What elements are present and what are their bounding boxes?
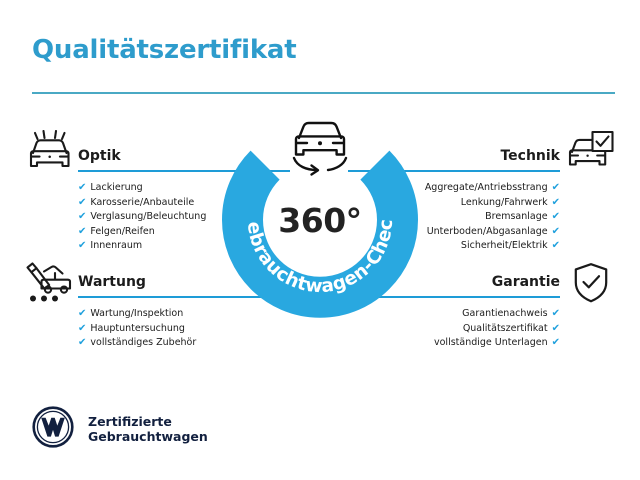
footer-text: Zertifizierte Gebrauchtwagen <box>88 414 208 444</box>
checklist-item: ✔vollständiges Zubehör <box>78 336 248 351</box>
checklist-item-label: vollständiges Zubehör <box>90 337 196 348</box>
check-icon: ✔ <box>78 211 86 222</box>
check-icon: ✔ <box>78 182 86 193</box>
check-icon: ✔ <box>78 197 86 208</box>
checklist-item-label: Sicherheit/Elektrik <box>461 240 548 251</box>
checklist-item-label: Lenkung/Fahrwerk <box>461 197 548 208</box>
footer-line-2: Gebrauchtwagen <box>88 429 208 444</box>
check-icon: ✔ <box>78 337 86 348</box>
certificate-page: Qualitätszertifikat <box>0 0 640 480</box>
check-icon: ✔ <box>78 240 86 251</box>
checklist-item-label: Bremsanlage <box>485 211 547 222</box>
checklist-item-label: Aggregate/Antriebsstrang <box>425 182 548 193</box>
checklist-item-label: Lackierung <box>90 182 142 193</box>
checklist-item-label: Wartung/Inspektion <box>90 308 183 319</box>
footer-line-1: Zertifizierte <box>88 414 208 429</box>
checklist-item: Qualitätszertifikat✔ <box>390 322 560 337</box>
checklist-item-label: Qualitätszertifikat <box>463 323 548 334</box>
section-title-optik: Optik <box>78 148 121 164</box>
check-icon: ✔ <box>552 182 560 193</box>
car-front-checkbox-icon <box>567 130 615 178</box>
section-title-wartung: Wartung <box>78 274 146 290</box>
checklist-item-label: Felgen/Reifen <box>90 226 154 237</box>
car-front-rotate-icon <box>284 116 356 182</box>
checklist-item-label: Innenraum <box>90 240 142 251</box>
car-front-shine-icon <box>27 130 73 178</box>
footer-brand: Zertifizierte Gebrauchtwagen <box>32 406 208 452</box>
check-icon: ✔ <box>552 337 560 348</box>
car-wrench-icon <box>24 262 74 308</box>
checklist-item-label: Unterboden/Abgasanlage <box>427 226 548 237</box>
check-icon: ✔ <box>78 308 86 319</box>
shield-check-icon <box>572 262 610 308</box>
volkswagen-logo <box>32 406 74 452</box>
checklist-item: ✔Hauptuntersuchung <box>78 322 248 337</box>
section-title-garantie: Garantie <box>492 274 560 290</box>
checklist-item-label: Garantienachweis <box>462 308 547 319</box>
badge-360-gebrauchtwagen-check: Gebrauchtwagen-Check 360° <box>222 122 418 318</box>
check-icon: ✔ <box>552 323 560 334</box>
page-title: Qualitätszertifikat <box>32 35 296 65</box>
check-icon: ✔ <box>78 323 86 334</box>
check-icon: ✔ <box>552 197 560 208</box>
checklist-item-label: Karosserie/Anbauteile <box>90 197 194 208</box>
header-divider <box>32 92 615 94</box>
check-icon: ✔ <box>552 240 560 251</box>
checklist-item-label: Verglasung/Beleuchtung <box>90 211 206 222</box>
check-icon: ✔ <box>78 226 86 237</box>
check-icon: ✔ <box>552 226 560 237</box>
checklist-item: vollständige Unterlagen✔ <box>390 336 560 351</box>
check-icon: ✔ <box>552 308 560 319</box>
checklist-item-label: vollständige Unterlagen <box>434 337 548 348</box>
section-title-technik: Technik <box>500 148 560 164</box>
checklist-item-label: Hauptuntersuchung <box>90 323 185 334</box>
check-icon: ✔ <box>552 211 560 222</box>
